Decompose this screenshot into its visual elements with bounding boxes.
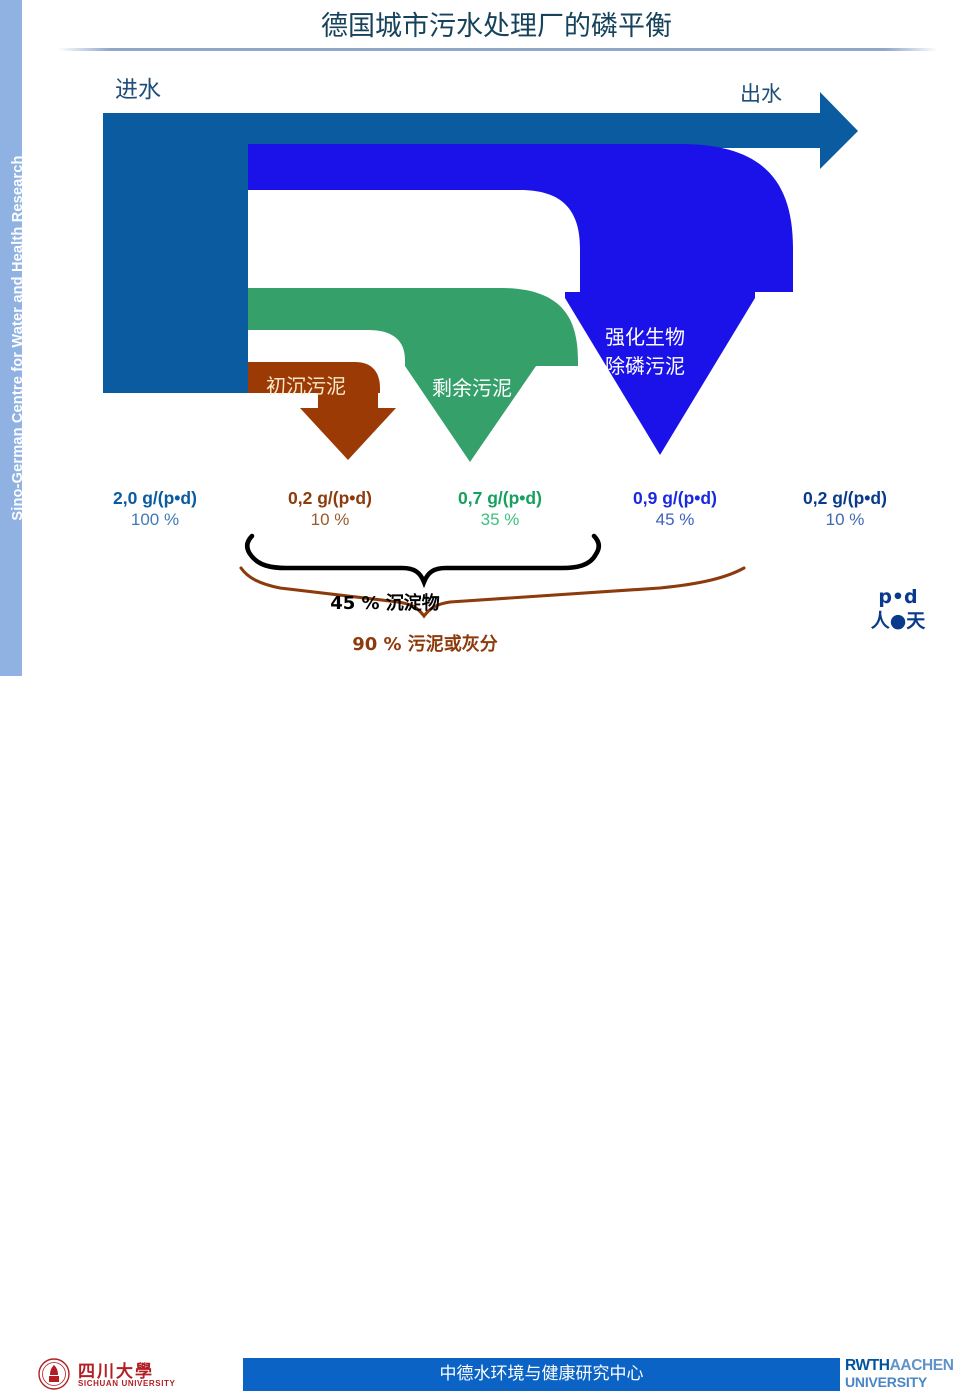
figure-excess-sludge: 0,7 g/(p•d) 35 % bbox=[415, 488, 585, 531]
unit-legend: p•d 人●天 bbox=[838, 585, 958, 633]
figure-value: 0,2 g/(p•d) bbox=[760, 488, 930, 509]
footer-title: 中德水环境与健康研究中心 bbox=[243, 1358, 840, 1391]
excess-sludge-label: 剩余污泥 bbox=[432, 372, 512, 401]
figure-percent: 45 % bbox=[590, 509, 760, 531]
figure-percent: 10 % bbox=[760, 509, 930, 531]
scu-torch-icon bbox=[50, 1365, 58, 1375]
figure-percent: 35 % bbox=[415, 509, 585, 531]
figure-value: 2,0 g/(p•d) bbox=[70, 488, 240, 509]
figure-effluent: 0,2 g/(p•d) 10 % bbox=[760, 488, 930, 531]
brown-brace-caption: 90 % 污泥或灰分 bbox=[265, 630, 585, 656]
figure-bio-p-sludge: 0,9 g/(p•d) 45 % bbox=[590, 488, 760, 531]
unit-legend-line2: 人●天 bbox=[838, 609, 958, 633]
figure-primary-sludge: 0,2 g/(p•d) 10 % bbox=[245, 488, 415, 531]
figure-value: 0,7 g/(p•d) bbox=[415, 488, 585, 509]
scu-name-en: SICHUAN UNIVERSITY bbox=[78, 1379, 175, 1388]
rwth-mark: RWTH bbox=[845, 1357, 890, 1374]
bio-p-sludge-label-line1: 强化生物 bbox=[605, 323, 685, 352]
scu-base-icon bbox=[49, 1376, 59, 1382]
footer: 中德水环境与健康研究中心 四川大學 SICHUAN UNIVERSITY RWT… bbox=[0, 676, 960, 720]
figure-percent: 100 % bbox=[70, 509, 240, 531]
figure-influent: 2,0 g/(p•d) 100 % bbox=[70, 488, 240, 531]
bio-p-sludge-label: 强化生物 除磷污泥 bbox=[605, 323, 685, 381]
black-brace bbox=[247, 536, 599, 582]
slide-canvas: Sino-German Centre for Water and Health … bbox=[0, 0, 960, 720]
figure-percent: 10 % bbox=[245, 509, 415, 531]
rwth-university-word: UNIVERSITY bbox=[845, 1374, 957, 1390]
rwth-aachen-logo: RWTHAACHEN UNIVERSITY bbox=[845, 1358, 957, 1392]
unit-legend-line1: p•d bbox=[838, 585, 958, 609]
primary-sludge-label: 初沉污泥 bbox=[266, 370, 346, 399]
black-brace-caption: 45 % 沉淀物 bbox=[255, 589, 515, 615]
rwth-aachen-word: AACHEN bbox=[890, 1357, 954, 1374]
rwth-logo-line1: RWTHAACHEN bbox=[845, 1358, 957, 1374]
figure-value: 0,2 g/(p•d) bbox=[245, 488, 415, 509]
figure-value: 0,9 g/(p•d) bbox=[590, 488, 760, 509]
bio-p-sludge-label-line2: 除磷污泥 bbox=[605, 352, 685, 381]
